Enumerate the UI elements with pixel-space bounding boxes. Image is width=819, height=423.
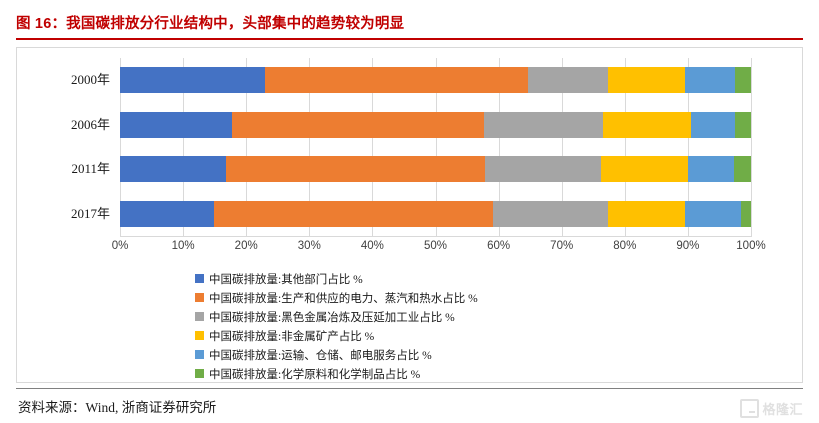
bar-segment[interactable]: [685, 201, 741, 227]
legend-label: 中国碳排放量:化学原料和化学制品占比 %: [209, 366, 420, 382]
legend-label: 中国碳排放量:黑色金属冶炼及压延加工业占比 %: [209, 309, 455, 325]
chart-container: 2000年2006年2011年2017年 0%10%20%30%40%50%60…: [16, 47, 803, 383]
title-divider: [16, 38, 803, 40]
legend-item[interactable]: 中国碳排放量:运输、仓储、邮电服务占比 %: [195, 346, 755, 363]
x-axis-tick-label: 30%: [298, 240, 321, 252]
x-axis-tick-label: 60%: [487, 240, 510, 252]
bar-segment[interactable]: [691, 112, 735, 138]
bar-segment[interactable]: [528, 67, 608, 93]
x-axis-tick-label: 70%: [550, 240, 573, 252]
bar-segment[interactable]: [735, 67, 751, 93]
footer-divider: [16, 388, 803, 389]
bar-segment[interactable]: [741, 201, 751, 227]
legend-color-swatch: [195, 293, 204, 302]
legend-item[interactable]: 中国碳排放量:其他部门占比 %: [195, 270, 755, 287]
x-axis-line: [120, 236, 752, 237]
legend-color-swatch: [195, 350, 204, 359]
legend-item[interactable]: 中国碳排放量:黑色金属冶炼及压延加工业占比 %: [195, 308, 755, 325]
legend-label: 中国碳排放量:其他部门占比 %: [209, 271, 363, 287]
bar-segment[interactable]: [120, 156, 226, 182]
x-axis-tick-label: 40%: [361, 240, 384, 252]
stacked-bar[interactable]: [120, 201, 751, 227]
gridline: [751, 58, 752, 236]
bar-segment[interactable]: [601, 156, 687, 182]
bar-segment[interactable]: [485, 156, 602, 182]
legend-item[interactable]: 中国碳排放量:非金属矿产占比 %: [195, 327, 755, 344]
source-note: 资料来源：Wind, 浙商证券研究所: [18, 396, 216, 416]
bar-rows: [120, 58, 751, 236]
watermark-text: 格隆汇: [762, 399, 803, 418]
legend-label: 中国碳排放量:生产和供应的电力、蒸汽和热水占比 %: [209, 290, 478, 306]
bar-segment[interactable]: [120, 112, 232, 138]
legend-item[interactable]: 中国碳排放量:化学原料和化学制品占比 %: [195, 365, 755, 382]
bar-segment[interactable]: [265, 67, 528, 93]
x-axis-tick-label: 0%: [112, 240, 129, 252]
y-axis-labels: 2000年2006年2011年2017年: [17, 58, 118, 236]
bar-segment[interactable]: [603, 112, 691, 138]
bar-segment[interactable]: [226, 156, 485, 182]
bar-segment[interactable]: [120, 67, 265, 93]
y-axis-tick-label: 2011年: [71, 156, 110, 182]
legend-color-swatch: [195, 312, 204, 321]
bar-segment[interactable]: [120, 201, 214, 227]
y-axis-tick-label: 2017年: [71, 201, 110, 227]
legend-color-swatch: [195, 369, 204, 378]
bar-segment[interactable]: [688, 156, 734, 182]
x-axis-tick-label: 80%: [613, 240, 636, 252]
plot-area: [120, 58, 751, 236]
bar-segment[interactable]: [685, 67, 735, 93]
y-axis-tick-label: 2006年: [71, 112, 110, 138]
legend-color-swatch: [195, 274, 204, 283]
bar-segment[interactable]: [608, 201, 686, 227]
stacked-bar[interactable]: [120, 156, 751, 182]
x-axis-tick-label: 100%: [736, 240, 765, 252]
x-axis-tick-label: 10%: [172, 240, 195, 252]
watermark-logo-icon: [740, 399, 759, 418]
watermark: 格隆汇: [740, 399, 803, 418]
x-axis-tick-label: 90%: [676, 240, 699, 252]
legend-color-swatch: [195, 331, 204, 340]
x-axis-labels: 0%10%20%30%40%50%60%70%80%90%100%: [120, 240, 751, 258]
y-axis-tick-label: 2000年: [71, 67, 110, 93]
bar-segment[interactable]: [493, 201, 608, 227]
bar-segment[interactable]: [734, 156, 751, 182]
legend-label: 中国碳排放量:运输、仓储、邮电服务占比 %: [209, 347, 432, 363]
bar-segment[interactable]: [608, 67, 685, 93]
bar-segment[interactable]: [484, 112, 603, 138]
bar-segment[interactable]: [232, 112, 484, 138]
legend-item[interactable]: 中国碳排放量:生产和供应的电力、蒸汽和热水占比 %: [195, 289, 755, 306]
figure-title: 图 16：我国碳排放分行业结构中，头部集中的趋势较为明显: [16, 12, 404, 33]
chart-legend: 中国碳排放量:其他部门占比 %中国碳排放量:生产和供应的电力、蒸汽和热水占比 %…: [195, 270, 755, 384]
stacked-bar[interactable]: [120, 112, 751, 138]
x-axis-tick-label: 50%: [424, 240, 447, 252]
stacked-bar[interactable]: [120, 67, 751, 93]
legend-label: 中国碳排放量:非金属矿产占比 %: [209, 328, 374, 344]
x-axis-tick-label: 20%: [235, 240, 258, 252]
bar-segment[interactable]: [735, 112, 751, 138]
bar-segment[interactable]: [214, 201, 493, 227]
